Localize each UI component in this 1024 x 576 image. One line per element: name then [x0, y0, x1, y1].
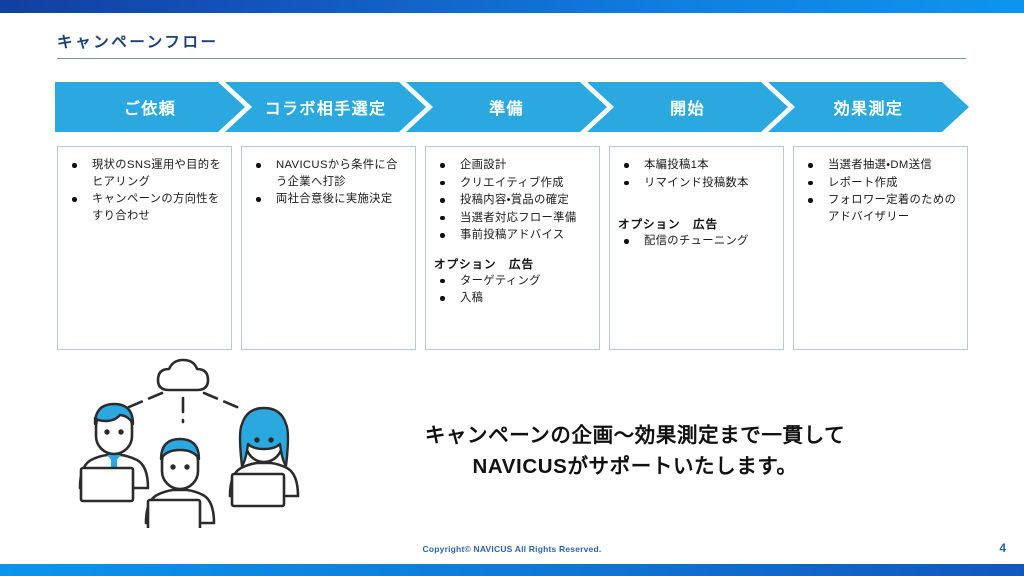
flow-step-3-label: 準備: [489, 95, 524, 119]
list-item: 配信のチューニング: [618, 233, 775, 250]
detail-box-3-option-list: ターゲティング 入稿: [434, 273, 591, 307]
list-item: リマインド投稿数本: [618, 175, 775, 192]
person-center: [146, 439, 214, 528]
flow-step-1-label: ご依頼: [124, 95, 176, 119]
list-item: フォロワー定着のためのアドバイザリー: [802, 192, 959, 225]
list-item: 本編投稿1本: [618, 157, 775, 174]
flow-step-4-label: 開始: [670, 95, 705, 119]
detail-box-4-list: 本編投稿1本 リマインド投稿数本: [618, 157, 775, 191]
list-item: 当選者抽選・DM送信: [802, 157, 959, 174]
list-item: レポート作成: [802, 175, 959, 192]
flow-step-2[interactable]: コラボ相手選定: [225, 82, 426, 132]
flow-step-5[interactable]: 効果測定: [768, 82, 969, 132]
list-item: 現状のSNS運用や目的をヒアリング: [66, 157, 223, 190]
team-cloud-illustration: [52, 348, 352, 528]
slide-root: キャンペーンフロー ご依頼 コラボ相手選定 準備 開始 効果測定 現状のSNS運…: [0, 0, 1024, 576]
connector-lines: [122, 393, 244, 422]
flow-detail-boxes: 現状のSNS運用や目的をヒアリング キャンペーンの方向性をすり合わせ NAVIC…: [57, 146, 968, 350]
flow-step-2-label: コラボ相手選定: [265, 95, 387, 119]
flow-steps-banner: ご依頼 コラボ相手選定 準備 開始 効果測定: [55, 82, 969, 132]
detail-box-3-list: 企画設計 クリエイティブ作成 投稿内容・賞品の確定 当選者対応フロー準備 事前投…: [434, 157, 591, 244]
person-left-tie: [80, 404, 148, 501]
detail-box-4-option-list: 配信のチューニング: [618, 233, 775, 250]
detail-box-4-option-heading: オプション 広告: [618, 216, 775, 232]
list-item: 両社合意後に実施決定: [250, 191, 407, 208]
list-item: NAVICUSから条件に合う企業へ打診: [250, 157, 407, 190]
top-accent-bar: [0, 0, 1024, 13]
flow-step-1[interactable]: ご依頼: [55, 82, 245, 132]
list-item: ターゲティング: [434, 273, 591, 290]
detail-box-5-list: 当選者抽選・DM送信 レポート作成 フォロワー定着のためのアドバイザリー: [802, 157, 959, 225]
detail-box-2-list: NAVICUSから条件に合う企業へ打診 両社合意後に実施決定: [250, 157, 407, 208]
page-number: 4: [999, 541, 1006, 555]
copyright-text: Copyright© NAVICUS All Rights Reserved.: [0, 544, 1024, 554]
detail-box-5: 当選者抽選・DM送信 レポート作成 フォロワー定着のためのアドバイザリー: [793, 146, 968, 350]
cloud-icon: [158, 360, 208, 390]
title-divider: [57, 58, 966, 59]
tagline-line-1: キャンペーンの企画〜効果測定まで一貫して: [425, 424, 845, 447]
person-right-long-hair: [230, 408, 298, 506]
bottom-accent-bar: [0, 564, 1024, 576]
tagline-line-2: NAVICUSがサポートいたします。: [395, 451, 875, 482]
detail-box-2: NAVICUSから条件に合う企業へ打診 両社合意後に実施決定: [241, 146, 416, 350]
list-item: キャンペーンの方向性をすり合わせ: [66, 191, 223, 224]
team-cloud-illustration-svg: [52, 348, 352, 528]
flow-step-4[interactable]: 開始: [587, 82, 788, 132]
list-item: 企画設計: [434, 157, 591, 174]
detail-box-3: 企画設計 クリエイティブ作成 投稿内容・賞品の確定 当選者対応フロー準備 事前投…: [425, 146, 600, 350]
detail-box-1: 現状のSNS運用や目的をヒアリング キャンペーンの方向性をすり合わせ: [57, 146, 232, 350]
list-item: 入稿: [434, 290, 591, 307]
detail-box-4-spacer: [618, 192, 775, 204]
flow-step-3[interactable]: 準備: [406, 82, 607, 132]
list-item: 事前投稿アドバイス: [434, 227, 591, 244]
detail-box-4: 本編投稿1本 リマインド投稿数本 オプション 広告 配信のチューニング: [609, 146, 784, 350]
list-item: クリエイティブ作成: [434, 175, 591, 192]
flow-step-5-label: 効果測定: [834, 95, 904, 119]
list-item: 当選者対応フロー準備: [434, 210, 591, 227]
page-title: キャンペーンフロー: [57, 30, 219, 52]
detail-box-1-list: 現状のSNS運用や目的をヒアリング キャンペーンの方向性をすり合わせ: [66, 157, 223, 224]
detail-box-3-option-heading: オプション 広告: [434, 256, 591, 272]
tagline: キャンペーンの企画〜効果測定まで一貫して NAVICUSがサポートいたします。: [395, 420, 875, 482]
list-item: 投稿内容・賞品の確定: [434, 192, 591, 209]
